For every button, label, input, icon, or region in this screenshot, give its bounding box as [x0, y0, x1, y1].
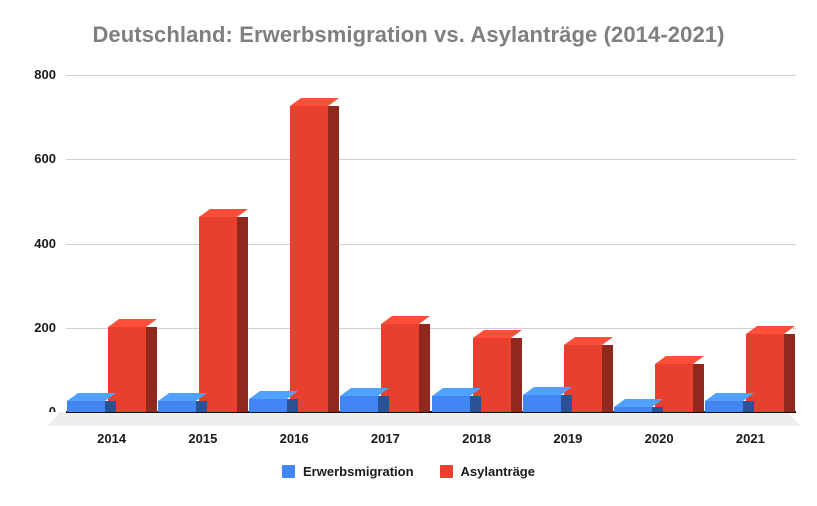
- bar-front-face: [340, 396, 378, 412]
- bar-top-face: [564, 337, 613, 346]
- bar-erwerbsmigration-2016[interactable]: [249, 399, 287, 412]
- bar-side-face: [105, 401, 116, 412]
- bar-erwerbsmigration-2015[interactable]: [158, 401, 196, 412]
- x-axis-tick-label: 2021: [705, 431, 795, 446]
- bar-side-face: [146, 327, 157, 412]
- bar-front-face: [158, 401, 196, 412]
- bar-erwerbsmigration-2018[interactable]: [432, 396, 470, 412]
- bar-front-face: [705, 401, 743, 412]
- legend-swatch-icon: [282, 465, 295, 478]
- bar-side-face: [743, 401, 754, 412]
- legend-item-erwerbsmigration[interactable]: Erwerbsmigration: [282, 464, 414, 479]
- bar-side-face: [470, 396, 481, 412]
- bar-erwerbsmigration-2019[interactable]: [523, 395, 561, 412]
- bar-top-face: [381, 316, 430, 325]
- bar-front-face: [199, 217, 237, 412]
- legend-item-asylanträge[interactable]: Asylanträge: [440, 464, 535, 479]
- bar-front-face: [290, 106, 328, 412]
- bar-top-face: [473, 330, 522, 339]
- bar-front-face: [67, 401, 105, 412]
- bar-asylanträge-2015[interactable]: [199, 217, 237, 412]
- bar-side-face: [237, 217, 248, 412]
- bar-front-face: [249, 399, 287, 412]
- bar-side-face: [693, 364, 704, 412]
- bar-erwerbsmigration-2017[interactable]: [340, 396, 378, 412]
- x-axis-tick-label: 2016: [249, 431, 339, 446]
- bar-top-face: [290, 98, 339, 107]
- bar-side-face: [602, 345, 613, 412]
- x-axis-tick-label: 2017: [340, 431, 430, 446]
- bar-top-face: [199, 209, 248, 218]
- bar-top-face: [108, 319, 157, 328]
- bar-side-face: [378, 396, 389, 412]
- bar-top-face: [655, 356, 704, 365]
- bar-side-face: [784, 334, 795, 412]
- x-axis-tick-label: 2018: [432, 431, 522, 446]
- bar-top-face: [67, 393, 116, 402]
- chart-legend: ErwerbsmigrationAsylanträge: [0, 464, 817, 479]
- bar-side-face: [561, 395, 572, 412]
- x-axis-tick-label: 2020: [614, 431, 704, 446]
- x-axis-tick-label: 2014: [67, 431, 157, 446]
- legend-swatch-icon: [440, 465, 453, 478]
- bar-front-face: [523, 395, 561, 412]
- bar-side-face: [196, 401, 207, 412]
- bar-top-face: [523, 387, 572, 396]
- chart-container: Deutschland: Erwerbsmigration vs. Asylan…: [0, 0, 817, 506]
- bar-erwerbsmigration-2014[interactable]: [67, 401, 105, 412]
- bar-side-face: [511, 338, 522, 412]
- bar-side-face: [419, 324, 430, 412]
- bar-side-face: [328, 106, 339, 412]
- bar-top-face: [340, 388, 389, 397]
- x-axis-tick-label: 2015: [158, 431, 248, 446]
- bar-top-face: [705, 393, 754, 402]
- x-axis-tick-label: 2019: [523, 431, 613, 446]
- bar-top-face: [158, 393, 207, 402]
- bar-erwerbsmigration-2020[interactable]: [614, 407, 652, 412]
- bar-erwerbsmigration-2021[interactable]: [705, 401, 743, 412]
- bar-top-face: [249, 391, 298, 400]
- bar-top-face: [432, 388, 481, 397]
- bar-asylanträge-2016[interactable]: [290, 106, 328, 412]
- legend-label: Erwerbsmigration: [303, 464, 414, 479]
- bar-front-face: [432, 396, 470, 412]
- bar-top-face: [614, 399, 663, 408]
- bar-side-face: [287, 399, 298, 412]
- bar-top-face: [746, 326, 795, 335]
- legend-label: Asylanträge: [461, 464, 535, 479]
